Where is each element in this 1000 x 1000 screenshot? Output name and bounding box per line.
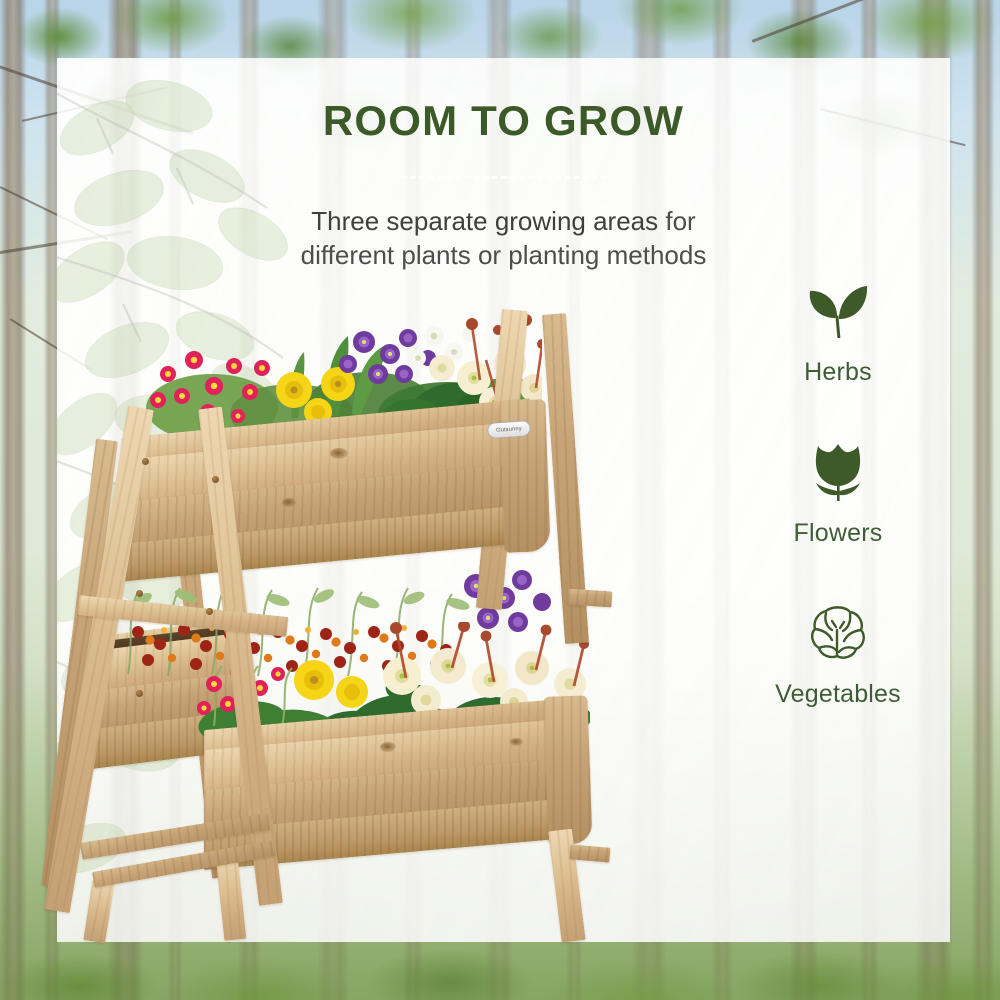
tulip-icon xyxy=(738,439,938,505)
frame-screw xyxy=(136,590,143,597)
wood-knot xyxy=(510,738,523,746)
subtitle-strong: Three separate growing areas xyxy=(311,206,658,236)
frame-foot-left xyxy=(83,879,114,944)
wood-knot xyxy=(380,742,396,752)
lettuce-icon xyxy=(738,600,938,666)
subtitle: Three separate growing areas for differe… xyxy=(57,205,950,273)
feature-herbs: Herbs xyxy=(738,278,938,387)
marketing-image: ROOM TO GROW Three separate growing area… xyxy=(0,0,1000,1000)
page-title: ROOM TO GROW xyxy=(57,100,950,142)
feature-vegetables: Vegetables xyxy=(738,600,938,709)
wood-knot xyxy=(330,448,348,459)
feature-label: Herbs xyxy=(738,358,938,387)
product-image: Outsunny xyxy=(70,290,670,950)
subtitle-tail: for xyxy=(658,206,696,236)
frame-screw xyxy=(142,458,149,465)
frame-screw xyxy=(206,608,213,615)
feature-label: Flowers xyxy=(738,519,938,548)
feature-flowers: Flowers xyxy=(738,439,938,548)
front-box-end-cap xyxy=(543,695,592,844)
frame-shelf-peg-right xyxy=(567,588,612,607)
feature-list: Herbs Flowers xyxy=(738,278,938,709)
feature-label: Vegetables xyxy=(738,680,938,709)
wood-knot xyxy=(282,498,296,507)
leaves-icon xyxy=(738,278,938,344)
frame-foot-center xyxy=(216,855,247,941)
subtitle-line2: different plants or planting methods xyxy=(301,240,707,270)
brand-badge: Outsunny xyxy=(487,420,531,439)
dashed-divider xyxy=(401,176,607,179)
headline-block: ROOM TO GROW Three separate growing area… xyxy=(57,100,950,273)
frame-screw xyxy=(212,476,219,483)
